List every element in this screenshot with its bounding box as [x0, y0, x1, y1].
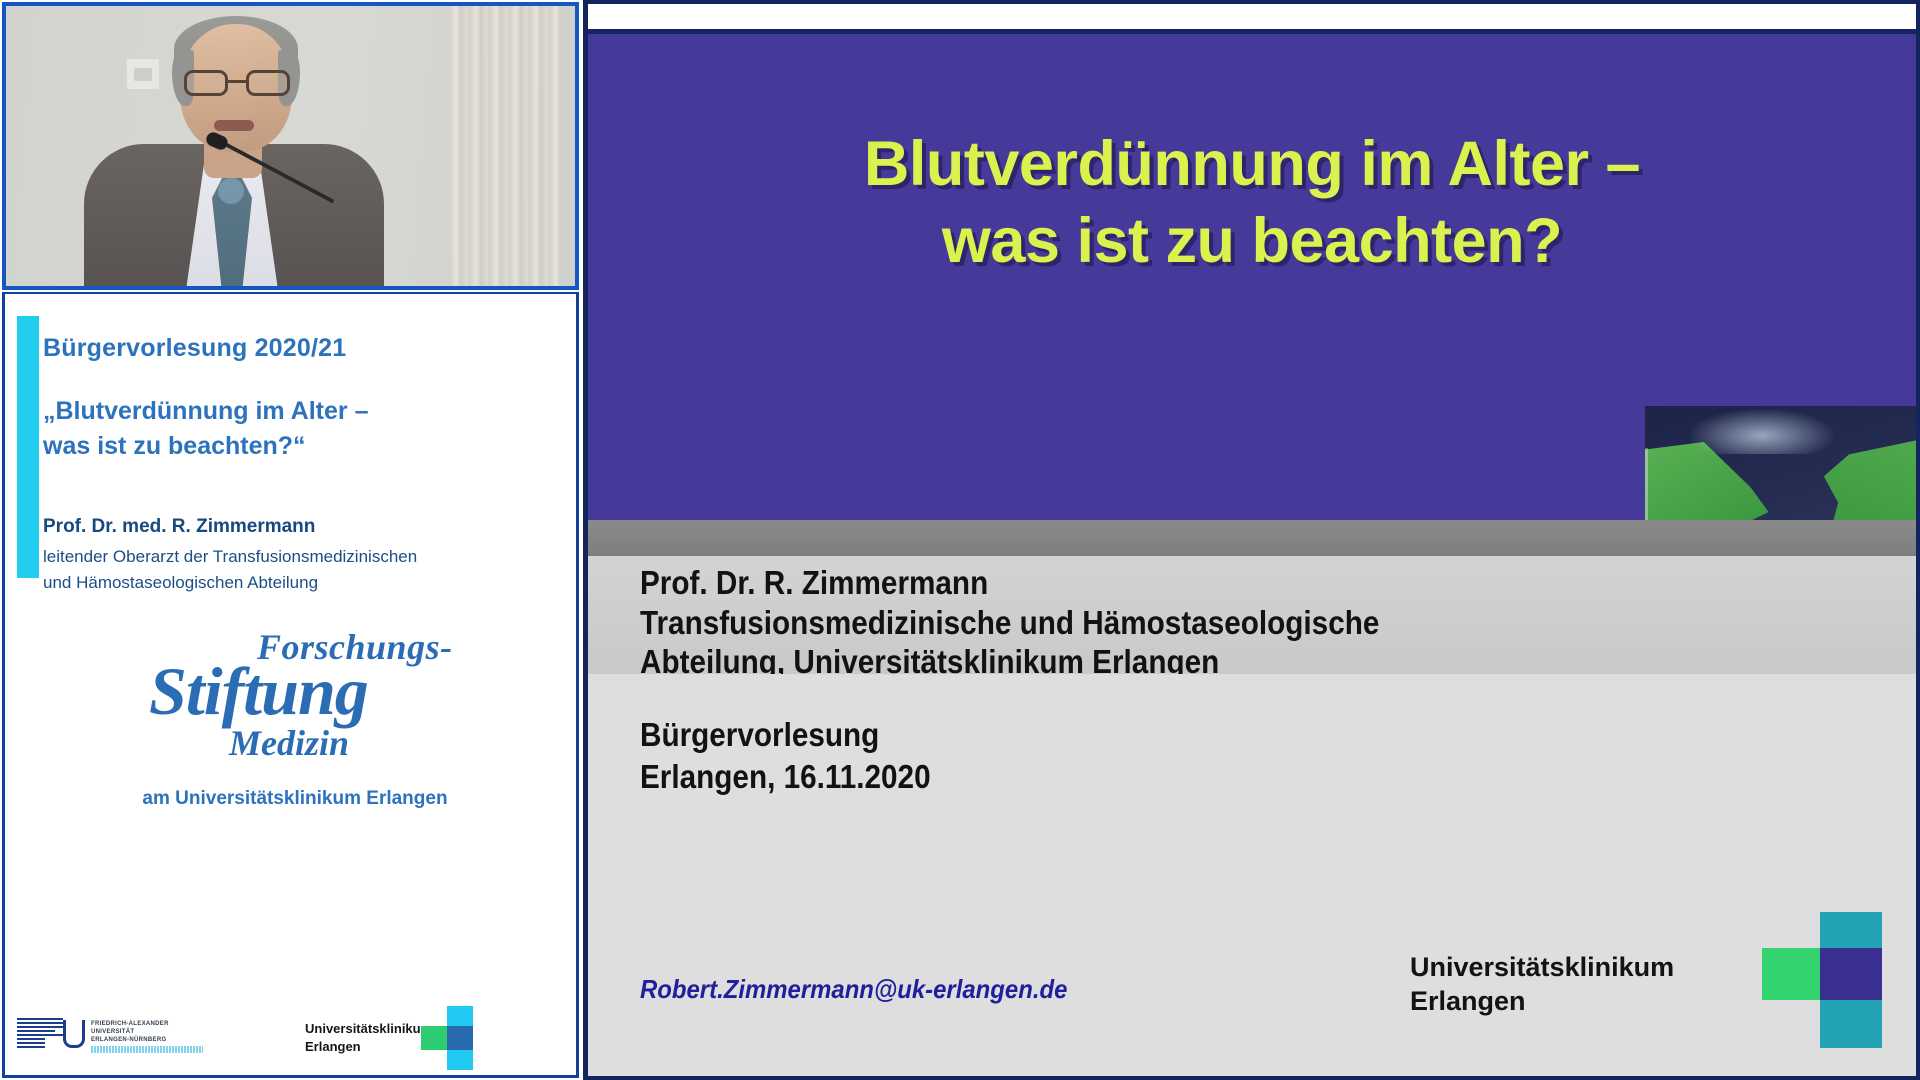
uk-footer-wordmark: Universitätsklinikum Erlangen — [305, 1020, 432, 1055]
screen: Bürgervorlesung 2020/21 „Blutverdünnung … — [0, 0, 1920, 1080]
pillar-decor — [451, 6, 559, 286]
slide-event-info: Bürgervorlesung Erlangen, 16.11.2020 — [640, 714, 1450, 798]
slide-event-line-1: Bürgervorlesung — [640, 714, 1450, 756]
slide-dept-line-1: Transfusionsmedizinische und Hämostaseol… — [640, 604, 1702, 643]
glasses-icon — [184, 70, 290, 96]
card-series-label: Bürgervorlesung 2020/21 — [43, 334, 346, 363]
uk-footer-line-1: Universitätsklinikum — [305, 1020, 432, 1038]
wall-switch-icon — [126, 58, 160, 90]
slide-footer-block: Bürgervorlesung Erlangen, 16.11.2020 Rob… — [588, 674, 1916, 1076]
fau-logo-u — [63, 1020, 85, 1048]
card-role-line-2: und Hämostaseologischen Abteilung — [43, 570, 543, 596]
video-frame — [6, 6, 575, 286]
logo-word-stiftung: Stiftung — [149, 652, 368, 731]
presentation-slide: Blutverdünnung im Alter – was ist zu bea… — [588, 34, 1916, 1076]
uk-footer-line-2: Erlangen — [305, 1038, 432, 1056]
slide-event-line-2: Erlangen, 16.11.2020 — [640, 756, 1450, 798]
card-speaker-role: leitender Oberarzt der Transfusionsmediz… — [43, 544, 543, 595]
slide-divider-band — [588, 520, 1916, 556]
logo-word-medizin: Medizin — [229, 722, 349, 764]
uk-slide-wordmark: Universitätsklinikum Erlangen — [1410, 950, 1674, 1018]
speaker-email-link[interactable]: Robert.Zimmermann@uk-erlangen.de — [640, 974, 1067, 1005]
slide-speaker-department: Transfusionsmedizinische und Hämostaseol… — [640, 604, 1702, 682]
slide-title: Blutverdünnung im Alter – was ist zu bea… — [588, 126, 1916, 280]
card-title-line-2: was ist zu beachten?“ — [43, 429, 543, 464]
slide-top-bar — [588, 0, 1916, 34]
uk-slide-line-1: Universitätsklinikum — [1410, 950, 1674, 984]
uk-erlangen-slide-logo: Universitätsklinikum Erlangen — [1402, 924, 1882, 1034]
slide-speaker-name: Prof. Dr. R. Zimmermann — [640, 564, 988, 602]
uk-erlangen-footer-logo: Universitätsklinikum Erlangen — [305, 1012, 545, 1072]
speaker-video-tile[interactable] — [2, 2, 579, 290]
slide-speaker-block: Prof. Dr. R. Zimmermann Transfusionsmedi… — [588, 556, 1916, 674]
uk-footer-blue-square — [447, 1026, 473, 1050]
satellite-haze — [1687, 408, 1837, 454]
slide-panel[interactable]: Blutverdünnung im Alter – was ist zu bea… — [583, 0, 1920, 1080]
fau-logo-mark — [17, 1018, 85, 1048]
uk-footer-green-square — [421, 1026, 447, 1050]
glasses-lens-right — [246, 70, 290, 96]
cyan-accent-bar — [17, 316, 39, 578]
fau-line-2: UNIVERSITÄT — [91, 1028, 169, 1036]
speaker-mouth — [214, 120, 254, 131]
left-column: Bürgervorlesung 2020/21 „Blutverdünnung … — [0, 0, 583, 1080]
glasses-bridge — [228, 80, 246, 83]
foundation-subtitle: am Universitätsklinikum Erlangen — [45, 788, 545, 810]
fau-logo: FRIEDRICH-ALEXANDER UNIVERSITÄT ERLANGEN… — [17, 1016, 217, 1066]
fau-line-1: FRIEDRICH-ALEXANDER — [91, 1020, 169, 1028]
fau-logo-rule — [91, 1046, 203, 1053]
card-lecture-title: „Blutverdünnung im Alter – was ist zu be… — [43, 394, 543, 463]
card-role-line-1: leitender Oberarzt der Transfusionsmediz… — [43, 544, 543, 570]
forschungsstiftung-medizin-logo: Forschungs- Stiftung Medizin — [45, 624, 545, 784]
slide-title-line-2: was ist zu beachten? — [588, 203, 1916, 280]
card-speaker-name: Prof. Dr. med. R. Zimmermann — [43, 516, 315, 538]
fau-line-3: ERLANGEN-NÜRNBERG — [91, 1036, 169, 1044]
uk-slide-line-2: Erlangen — [1410, 984, 1674, 1018]
lecture-info-card: Bürgervorlesung 2020/21 „Blutverdünnung … — [2, 292, 579, 1078]
card-title-line-1: „Blutverdünnung im Alter – — [43, 394, 543, 429]
glasses-lens-left — [184, 70, 228, 96]
uk-slide-indigo-square — [1820, 948, 1882, 1000]
uk-slide-green-square — [1762, 948, 1820, 1000]
slide-title-line-1: Blutverdünnung im Alter – — [588, 126, 1916, 203]
fau-logo-text: FRIEDRICH-ALEXANDER UNIVERSITÄT ERLANGEN… — [91, 1020, 169, 1044]
